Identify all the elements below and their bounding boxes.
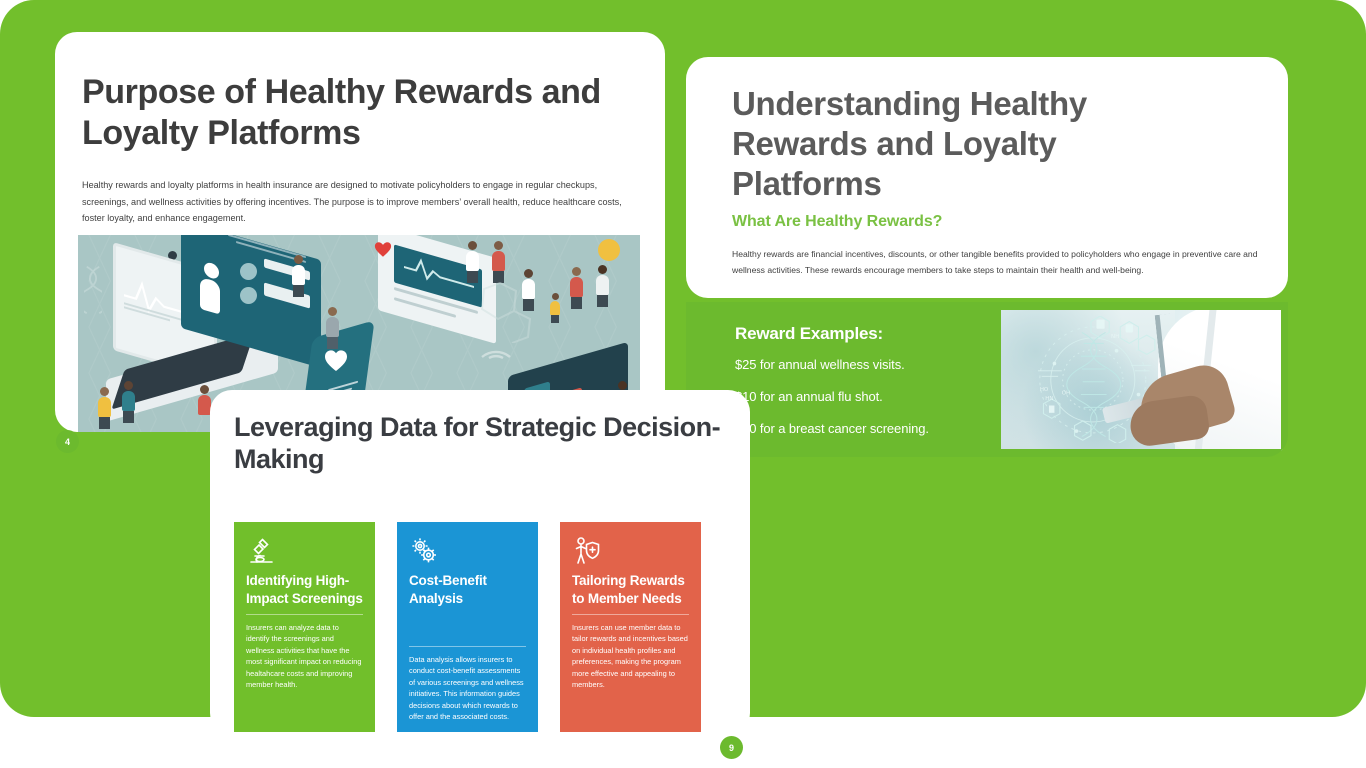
card-purpose: Purpose of Healthy Rewards and Loyalty P…	[55, 32, 665, 432]
svg-text:NH: NH	[1111, 333, 1119, 339]
svg-text:OH: OH	[1062, 390, 1070, 396]
reward-examples-heading: Reward Examples:	[735, 324, 883, 344]
page-number-badge: 4	[56, 430, 79, 453]
card-leveraging-data: Leveraging Data for Strategic Decision-M…	[210, 390, 750, 735]
page-title-understanding: Understanding Healthy Rewards and Loyalt…	[732, 84, 1172, 204]
reward-examples-list: $25 for annual wellness visits. $10 for …	[735, 358, 929, 454]
doctor-tablet-photo: HOHN OHNH	[999, 308, 1283, 451]
microscope-icon	[246, 536, 276, 566]
column-body: Insurers can analyze data to identify th…	[246, 622, 363, 690]
subtitle-what-are-healthy-rewards: What Are Healthy Rewards?	[732, 213, 1212, 231]
card-understanding: Understanding Healthy Rewards and Loyalt…	[686, 57, 1288, 298]
purpose-body-text: Healthy rewards and loyalty platforms in…	[82, 177, 644, 227]
divider	[409, 646, 526, 647]
column-title: Cost-Benefit Analysis	[409, 572, 526, 608]
list-item: $10 for an annual flu shot.	[735, 390, 929, 404]
page-title-leveraging: Leveraging Data for Strategic Decision-M…	[234, 411, 734, 475]
column-cost-benefit-analysis[interactable]: Cost-Benefit Analysis Data analysis allo…	[397, 522, 538, 732]
gears-icon	[409, 536, 439, 566]
reward-examples-block: Reward Examples: $25 for annual wellness…	[686, 302, 1288, 457]
column-body: Data analysis allows insurers to conduct…	[409, 654, 526, 722]
column-identifying-high-impact-screenings[interactable]: Identifying High-Impact Screenings Insur…	[234, 522, 375, 732]
divider	[572, 614, 689, 615]
svg-text:HO: HO	[1040, 386, 1048, 392]
person-shield-icon	[572, 536, 602, 566]
column-title: Identifying High-Impact Screenings	[246, 572, 363, 608]
column-title: Tailoring Rewards to Member Needs	[572, 572, 689, 608]
slide-canvas: Purpose of Healthy Rewards and Loyalty P…	[0, 0, 1366, 768]
column-body: Insurers can use member data to tailor r…	[572, 622, 689, 690]
list-item: $25 for annual wellness visits.	[735, 358, 929, 372]
svg-text:HN: HN	[1045, 396, 1053, 402]
understanding-body-text: Healthy rewards are financial incentives…	[732, 247, 1260, 278]
page-title-purpose: Purpose of Healthy Rewards and Loyalty P…	[82, 72, 642, 154]
feature-columns: Identifying High-Impact Screenings Insur…	[234, 522, 726, 732]
divider	[246, 614, 363, 615]
column-tailoring-rewards[interactable]: Tailoring Rewards to Member Needs Insure…	[560, 522, 701, 732]
list-item: $50 for a breast cancer screening.	[735, 422, 929, 436]
page-number-badge: 9	[720, 736, 743, 759]
